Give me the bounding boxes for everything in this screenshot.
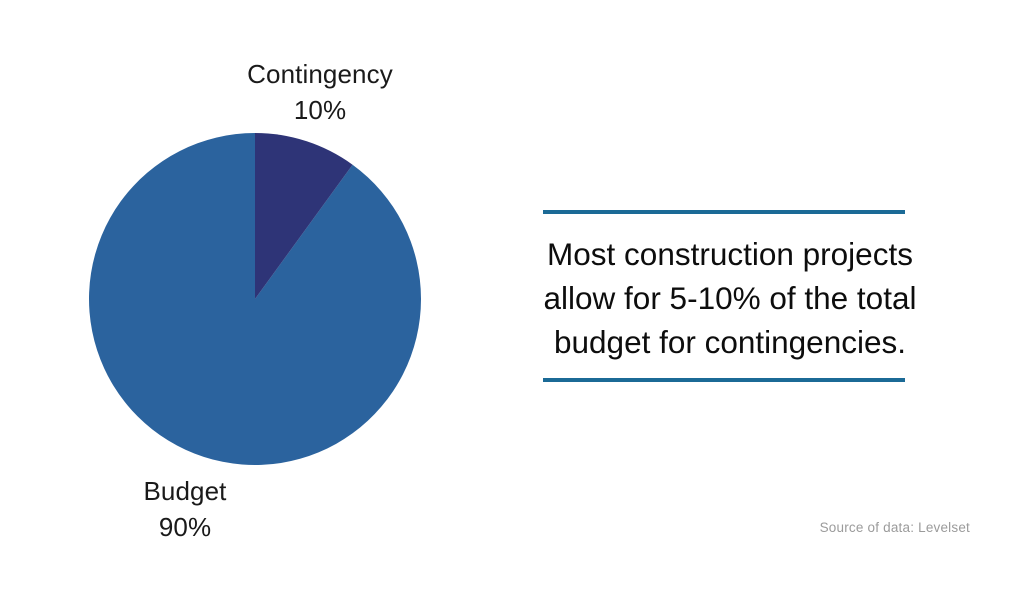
pie-label-budget-name: Budget <box>40 473 330 509</box>
callout-line-2: allow for 5-10% of the total <box>510 276 950 320</box>
callout-divider-top <box>543 210 905 214</box>
pie-label-contingency-value: 10% <box>175 92 465 128</box>
callout-panel: Most construction projects allow for 5-1… <box>500 0 1024 597</box>
pie-chart-panel: Contingency 10% Budget 90% <box>0 0 470 597</box>
slide-canvas: Contingency 10% Budget 90% Most construc… <box>0 0 1024 597</box>
callout-text: Most construction projects allow for 5-1… <box>510 232 950 364</box>
callout-line-3: budget for contingencies. <box>510 320 950 364</box>
callout-line-1: Most construction projects <box>510 232 950 276</box>
pie-label-contingency-name: Contingency <box>175 56 465 92</box>
callout-divider-bottom <box>543 378 905 382</box>
pie-label-budget: Budget 90% <box>40 473 330 545</box>
pie-chart-graphic <box>70 114 440 484</box>
pie-label-contingency: Contingency 10% <box>175 56 465 128</box>
source-attribution: Source of data: Levelset <box>600 519 970 537</box>
pie-label-budget-value: 90% <box>40 509 330 545</box>
